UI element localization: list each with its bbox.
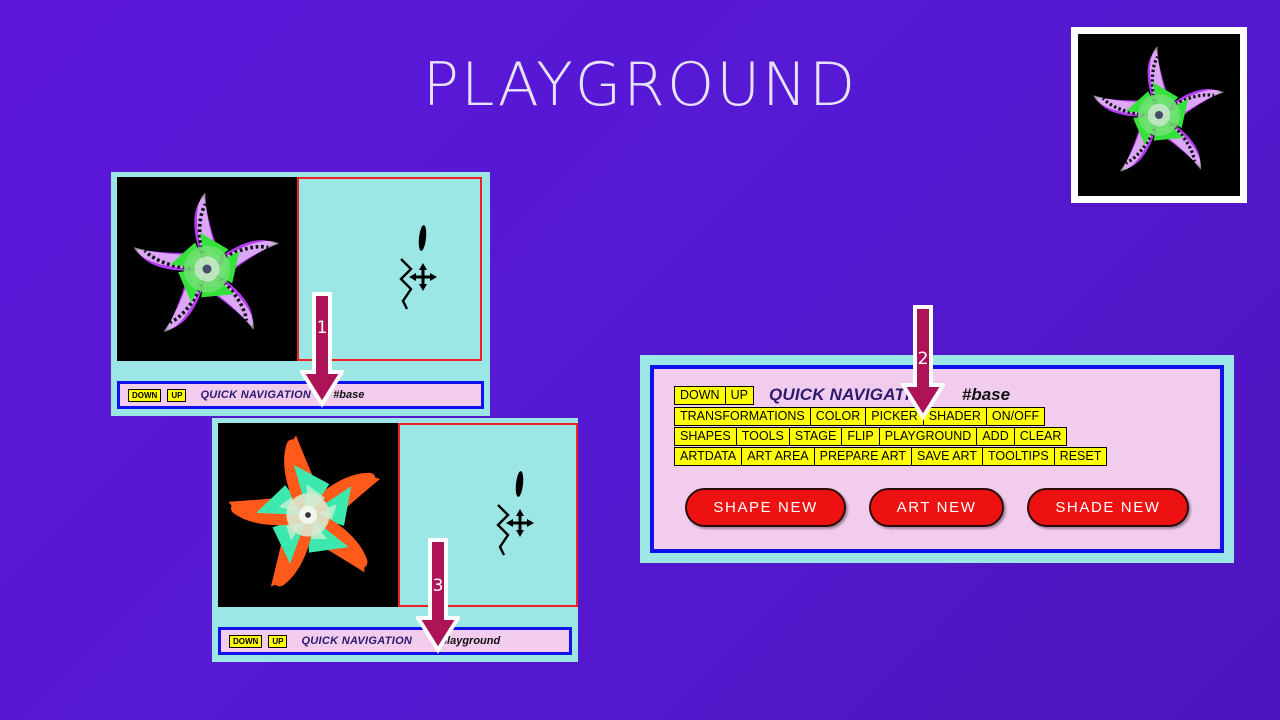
- nav-button-playground[interactable]: PLAYGROUND: [879, 427, 978, 446]
- playground-spacer: [212, 607, 578, 627]
- move-cursor-icon: [490, 471, 550, 561]
- pinwheel-art-icon: [218, 423, 398, 607]
- nav-button-tools[interactable]: TOOLS: [736, 427, 790, 446]
- nav-button-flip[interactable]: FLIP: [841, 427, 879, 446]
- shade-new-button[interactable]: SHADE NEW: [1027, 488, 1188, 527]
- playground-art-canvas: [218, 423, 398, 607]
- nav-button-color[interactable]: COLOR: [810, 407, 866, 426]
- callout-number-3: 3: [416, 576, 460, 596]
- quick-navigation-label: QUICK NAVIGATION: [301, 635, 412, 647]
- brush-dot-icon: [418, 225, 428, 252]
- nav-button-onoff[interactable]: ON/OFF: [986, 407, 1045, 426]
- callout-arrow-2: 2: [901, 305, 945, 421]
- move-cursor-icon: [393, 225, 453, 315]
- up-button[interactable]: UP: [725, 386, 754, 405]
- down-button[interactable]: DOWN: [128, 389, 161, 402]
- nav-row-shapes: SHAPES TOOLS STAGE FLIP PLAYGROUND ADD C…: [674, 427, 1200, 446]
- thumbnail-canvas: [1078, 34, 1240, 196]
- nav-button-stage[interactable]: STAGE: [789, 427, 842, 446]
- nav-button-transformations[interactable]: TRANSFORMATIONS: [674, 407, 811, 426]
- up-button[interactable]: UP: [268, 635, 287, 648]
- nav-button-save-art[interactable]: SAVE ART: [911, 447, 983, 466]
- spiral-art-icon: [1078, 34, 1240, 196]
- art-new-button[interactable]: ART NEW: [869, 488, 1005, 527]
- callout-number-1: 1: [300, 318, 344, 338]
- nav-button-clear[interactable]: CLEAR: [1014, 427, 1068, 446]
- nav-button-reset[interactable]: RESET: [1054, 447, 1108, 466]
- playground-art-row: [212, 418, 578, 607]
- shape-new-button[interactable]: SHAPE NEW: [685, 488, 845, 527]
- quick-navigation-label: QUICK NAVIGATION: [200, 389, 311, 401]
- down-button[interactable]: DOWN: [229, 635, 262, 648]
- playground-quick-navigation-bar[interactable]: DOWN UP QUICK NAVIGATION #playground: [218, 627, 572, 655]
- up-button[interactable]: UP: [167, 389, 186, 402]
- nav-button-tooltips[interactable]: TOOLTIPS: [982, 447, 1055, 466]
- anchor-label: #base: [962, 385, 1010, 405]
- nav-button-add[interactable]: ADD: [976, 427, 1014, 446]
- dialog-action-row: SHAPE NEW ART NEW SHADE NEW: [674, 488, 1200, 527]
- nav-button-prepare-art[interactable]: PREPARE ART: [814, 447, 912, 466]
- callout-arrow-1: 1: [300, 292, 344, 408]
- callout-number-2: 2: [901, 349, 945, 369]
- down-button[interactable]: DOWN: [674, 386, 726, 405]
- callout-arrow-3: 3: [416, 538, 460, 654]
- brush-dot-icon: [515, 471, 525, 498]
- spiral-art-icon: [117, 177, 297, 361]
- nav-button-art-area[interactable]: ART AREA: [741, 447, 814, 466]
- base-art-canvas: [117, 177, 297, 361]
- screenshot-playground-panel: DOWN UP QUICK NAVIGATION #playground: [212, 418, 578, 662]
- nav-button-shapes[interactable]: SHAPES: [674, 427, 737, 446]
- nav-button-artdata[interactable]: ARTDATA: [674, 447, 742, 466]
- nav-row-artdata: ARTDATA ART AREA PREPARE ART SAVE ART TO…: [674, 447, 1200, 466]
- spiral-art-thumbnail: [1071, 27, 1247, 203]
